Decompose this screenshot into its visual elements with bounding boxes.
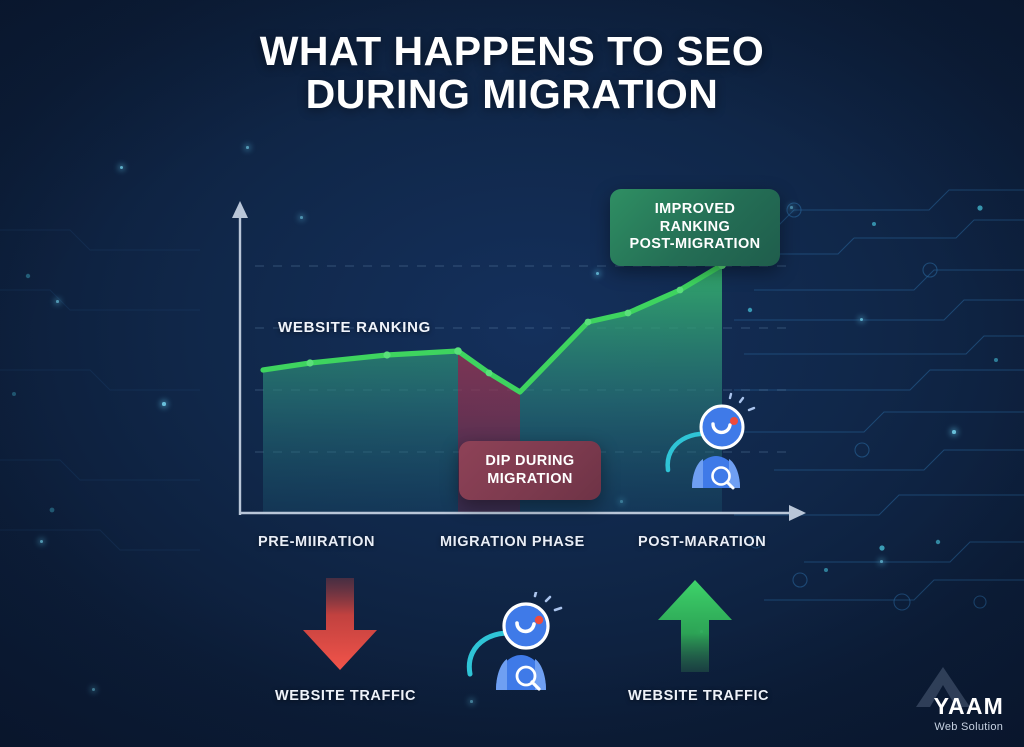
x-axis-label-post-migration: POST-MARATION xyxy=(638,534,766,550)
badge-improved-line-2: POST-MIGRATION xyxy=(626,236,764,254)
infographic-canvas: WHAT HAPPENS TO SEO DURING MIGRATION xyxy=(0,0,1024,747)
logo: YAAM Web Solution xyxy=(934,695,1004,733)
badge-dip-line-1: DIP DURING xyxy=(475,453,585,471)
x-axis-label-pre-migration: PRE-MIIRATION xyxy=(258,534,375,550)
badge-dip-during-migration: DIP DURING MIGRATION xyxy=(459,441,601,500)
badge-improved-line-1: IMPROVED RANKING xyxy=(626,201,764,236)
logo-name: YAAM xyxy=(934,695,1004,718)
seo-user-magnifier-icon-bottom xyxy=(462,592,580,692)
down-arrow-icon xyxy=(297,578,383,670)
badge-improved-ranking: IMPROVED RANKING POST-MIGRATION xyxy=(610,189,780,266)
bottom-label-website-traffic-up: WEBSITE TRAFFIC xyxy=(628,688,769,704)
up-arrow-icon xyxy=(652,580,738,672)
y-axis xyxy=(232,201,248,515)
x-axis-label-migration-phase: MIGRATION PHASE xyxy=(440,534,585,550)
bottom-label-website-traffic-down: WEBSITE TRAFFIC xyxy=(275,688,416,704)
logo-tagline: Web Solution xyxy=(934,721,1004,733)
badge-dip-line-2: MIGRATION xyxy=(475,471,585,489)
seo-user-magnifier-icon-chart xyxy=(660,392,772,492)
series-label-website-ranking: WEBSITE RANKING xyxy=(278,319,431,336)
